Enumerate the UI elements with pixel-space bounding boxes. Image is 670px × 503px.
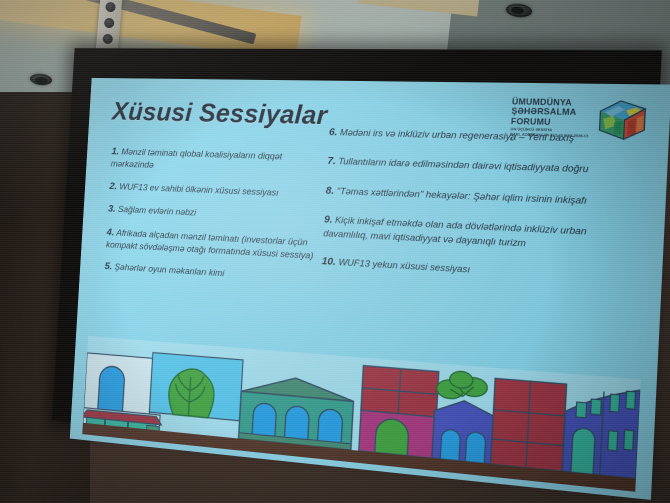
slide-title: Xüsusi Sessiyalar [111, 99, 327, 129]
item-text: WUF13 yekun xüsusi sessiyası [338, 256, 470, 274]
item-text: WUF13 ev sahibi ölkənin xüsusi sessiyası [119, 181, 279, 198]
list-item: 9. Kiçik inkişaf etməkdə olan ada dövlət… [323, 214, 639, 256]
item-text: Afrikada alçadan mənzil təminatı (invest… [106, 227, 314, 261]
item-number: 7. [327, 156, 336, 167]
list-item: 7. Tullantıların idarə edilməsindən dair… [327, 155, 643, 179]
item-number: 8. [325, 185, 334, 196]
screen-frame: Xüsusi Sessiyalar ÜMUMDÜNYA ŞƏHƏRSALMA F… [52, 48, 662, 480]
item-number: 6. [329, 127, 338, 138]
presentation-slide: Xüsusi Sessiyalar ÜMUMDÜNYA ŞƏHƏRSALMA F… [70, 78, 670, 500]
item-text: Şəhərlər oyun məkanları kimi [114, 261, 224, 278]
list-item: 2. WUF13 ev sahibi ölkənin xüsusi sessiy… [109, 180, 322, 201]
list-item: 3. Sağlam evlərin nəbzi [108, 203, 321, 226]
item-number: 9. [324, 215, 333, 226]
item-text: Kiçik inkişaf etməkdə olan ada dövlətlər… [323, 214, 587, 248]
list-item: 10. WUF13 yekun xüsusi sessiyası [321, 255, 637, 286]
conference-room-photo: Xüsusi Sessiyalar ÜMUMDÜNYA ŞƏHƏRSALMA F… [0, 0, 670, 503]
left-session-list: 1. Mənzil təminatı qlobal koalisiyaların… [104, 146, 324, 298]
list-item: 5. Şəhərlər oyun məkanları kimi [104, 261, 317, 287]
projection-screen: Xüsusi Sessiyalar ÜMUMDÜNYA ŞƏHƏRSALMA F… [36, 23, 670, 503]
item-number: 1. [111, 147, 119, 158]
item-number: 3. [108, 204, 116, 215]
item-text: Sağlam evlərin nəbzi [118, 204, 197, 218]
list-item: 1. Mənzil təminatı qlobal koalisiyaların… [110, 146, 324, 178]
item-text: Tullantıların idarə edilməsindən dairəvi… [338, 156, 589, 175]
list-item: 4. Afrikada alçadan mənzil təminatı (inv… [106, 226, 320, 262]
list-item: 8. "Təmas xəttlərindən" hekayələr: Şəhər… [325, 184, 641, 210]
item-number: 2. [109, 181, 117, 192]
downlight-icon [29, 73, 52, 86]
item-number: 5. [104, 262, 112, 273]
logo-line-3: FORUMU [511, 117, 592, 128]
right-session-list: 6. Mədəni irs və inklüziv urban regenera… [320, 126, 644, 304]
item-text: "Təmas xəttlərindən" hekayələr: Şəhər iq… [336, 185, 587, 206]
item-number: 10. [321, 256, 336, 268]
item-number: 4. [106, 227, 114, 238]
item-text: Mənzil təminatı qlobal koalisiyaların di… [111, 146, 283, 170]
